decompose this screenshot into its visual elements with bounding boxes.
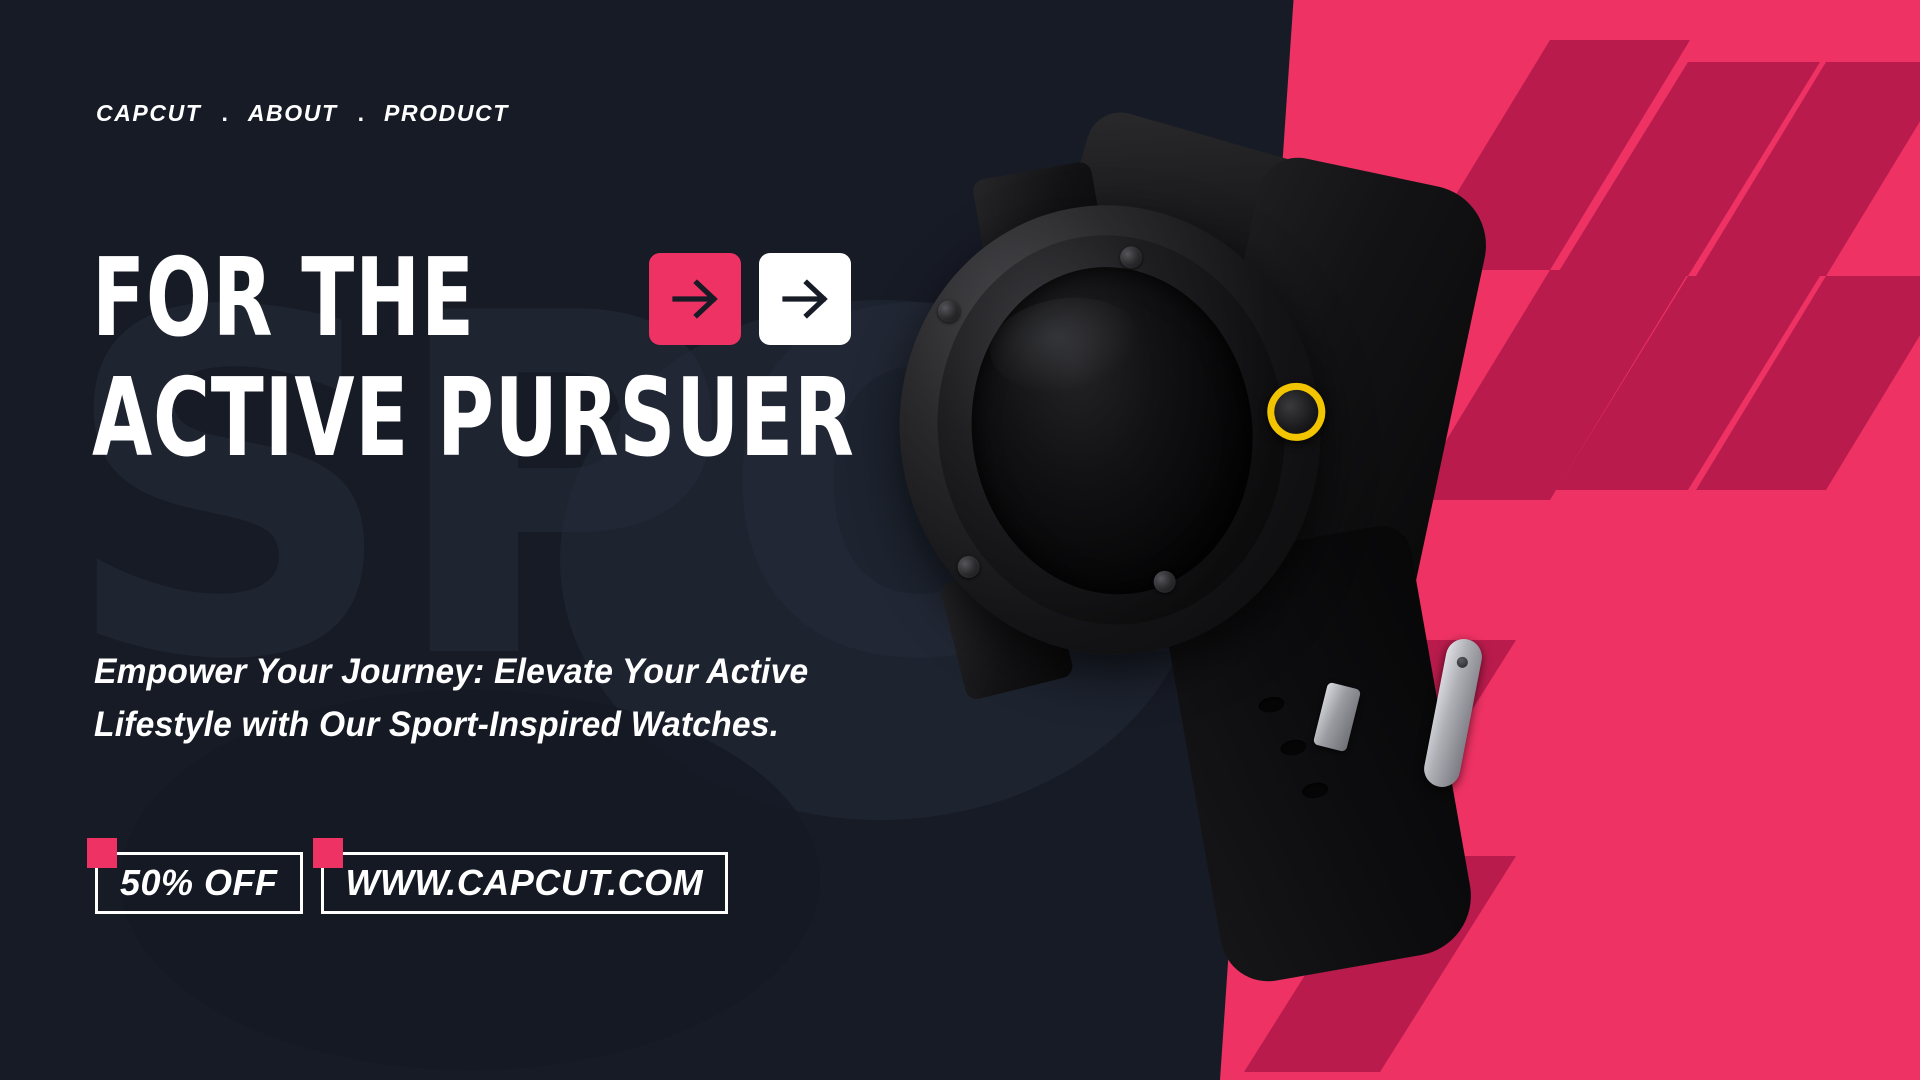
arrow-button-secondary[interactable] — [759, 253, 851, 345]
nav-item-capcut[interactable]: CAPCUT — [96, 100, 201, 127]
arrow-button-primary[interactable] — [649, 253, 741, 345]
discount-badge-label: 50% OFF — [120, 862, 278, 904]
badge-corner-accent — [313, 838, 343, 868]
website-badge-label: WWW.CAPCUT.COM — [346, 862, 704, 904]
arrow-right-icon — [779, 273, 831, 325]
arrow-right-icon — [669, 273, 721, 325]
nav-item-about[interactable]: ABOUT — [248, 100, 338, 127]
headline-line-1: FOR THE — [92, 248, 475, 350]
badge-corner-accent — [87, 838, 117, 868]
arrow-button-group — [649, 253, 851, 345]
discount-badge[interactable]: 50% OFF — [95, 852, 303, 914]
discount-badge-wrapper: 50% OFF — [95, 852, 303, 914]
headline-line-2: ACTIVE PURSUER — [92, 368, 855, 470]
strap-hole — [1257, 695, 1285, 714]
strap-hole — [1279, 738, 1307, 757]
website-badge[interactable]: WWW.CAPCUT.COM — [321, 852, 729, 914]
nav-separator: . — [217, 102, 231, 125]
subtitle-block: Empower Your Journey: Elevate Your Activ… — [94, 645, 824, 751]
top-navigation[interactable]: CAPCUT . ABOUT . PRODUCT — [96, 100, 509, 127]
subtitle-line-2: Lifestyle with Our Sport-Inspired Watche… — [94, 698, 824, 751]
promo-banner: SPORT — [0, 0, 1920, 1080]
nav-separator: . — [354, 102, 368, 125]
nav-item-product[interactable]: PRODUCT — [384, 100, 509, 127]
website-badge-wrapper: WWW.CAPCUT.COM — [321, 852, 729, 914]
bezel-screw — [956, 555, 981, 580]
badge-row: 50% OFF WWW.CAPCUT.COM — [95, 852, 728, 914]
subtitle-line-1: Empower Your Journey: Elevate Your Activ… — [94, 645, 824, 698]
headline-row-1: FOR THE — [92, 248, 1045, 350]
strap-hole — [1301, 781, 1329, 800]
headline-block: FOR THE ACTIVE — [92, 248, 1045, 469]
